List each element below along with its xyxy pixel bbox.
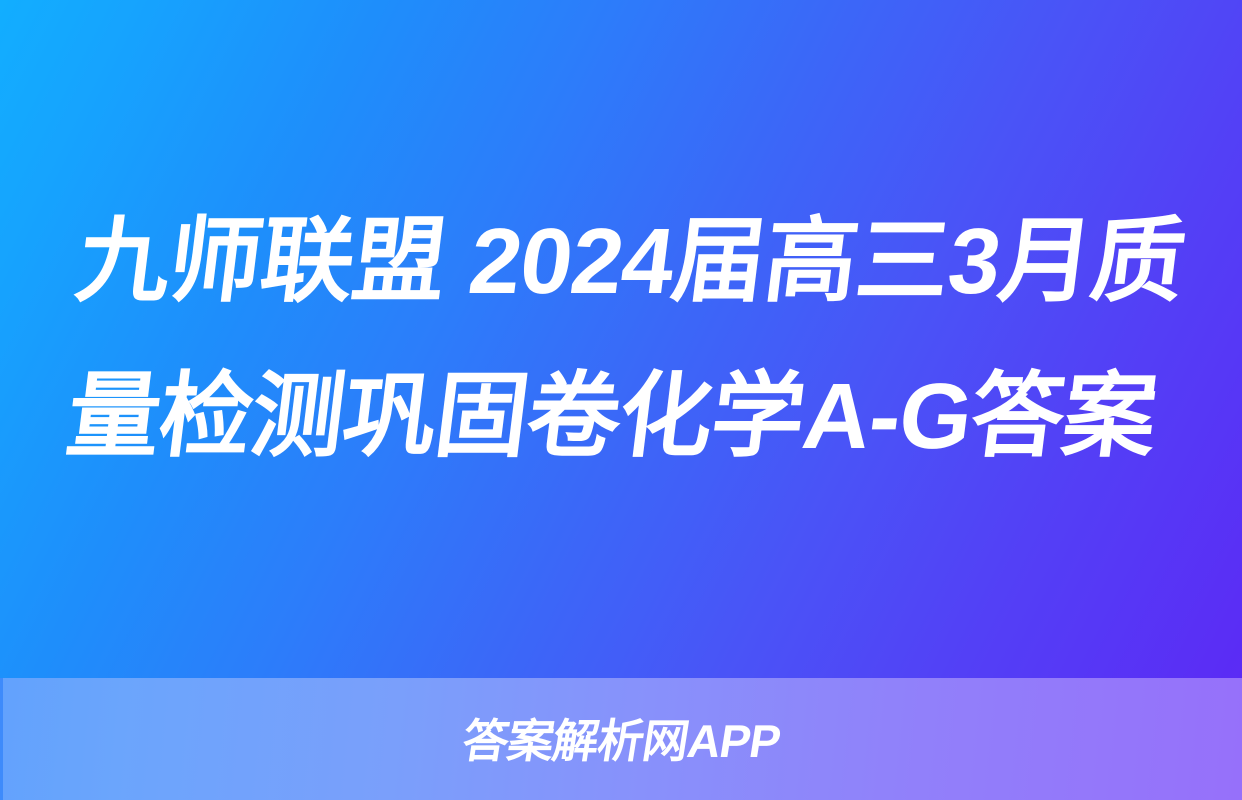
- page-title: 九师联盟 2024届高三3月质量检测巩固卷化学A-G答案: [37, 184, 1205, 494]
- page-root: 九师联盟 2024届高三3月质量检测巩固卷化学A-G答案 答案解析网APP: [0, 0, 1242, 800]
- app-watermark-label: 答案解析网APP: [459, 718, 783, 764]
- hero-banner: 九师联盟 2024届高三3月质量检测巩固卷化学A-G答案: [0, 0, 1242, 678]
- footer-edge-stripe: [0, 678, 3, 800]
- footer-watermark-band: 答案解析网APP: [0, 678, 1242, 800]
